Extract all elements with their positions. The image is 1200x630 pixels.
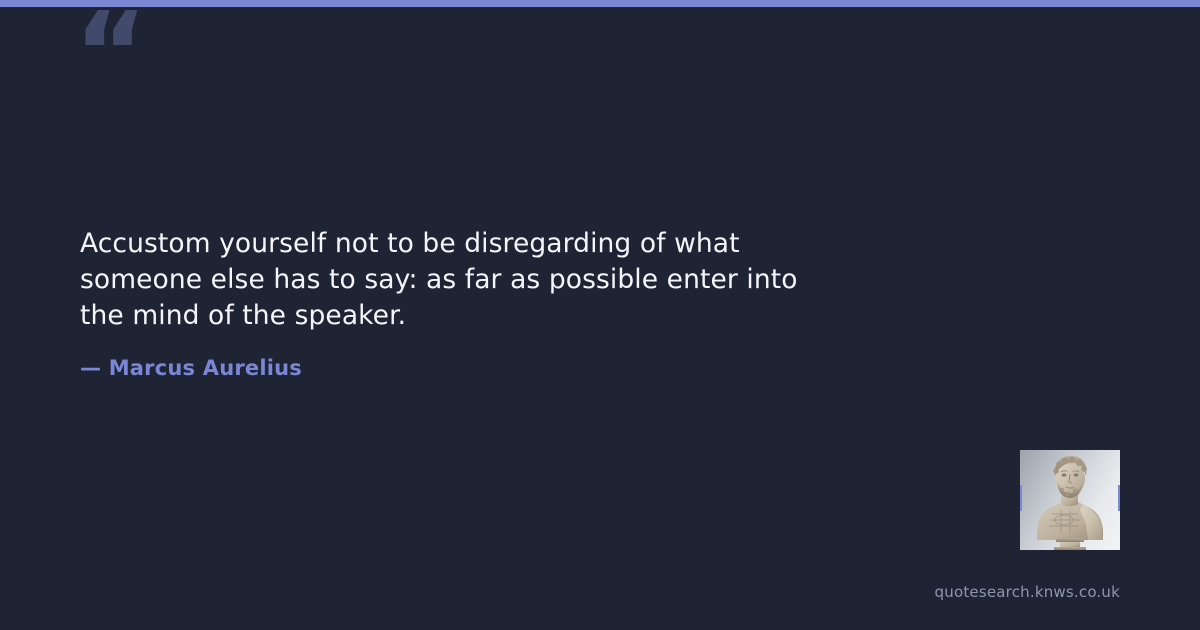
quote-line: the mind of the speaker. (80, 298, 960, 334)
author-portrait (1020, 450, 1120, 550)
quote-line: Accustom yourself not to be disregarding… (80, 226, 960, 262)
portrait-accent-tick-left (1020, 485, 1022, 511)
quote-card: “ Accustom yourself not to be disregardi… (0, 0, 1200, 630)
top-accent-bar (0, 0, 1200, 7)
marble-bust-icon (1020, 450, 1120, 550)
opening-quote-mark-icon: “ (74, 0, 146, 110)
quote-text-block: Accustom yourself not to be disregarding… (80, 226, 960, 334)
quote-attribution: — Marcus Aurelius (80, 356, 302, 380)
source-url: quotesearch.knws.co.uk (935, 583, 1120, 601)
quote-line: someone else has to say: as far as possi… (80, 262, 960, 298)
portrait-accent-tick-right (1118, 485, 1120, 511)
